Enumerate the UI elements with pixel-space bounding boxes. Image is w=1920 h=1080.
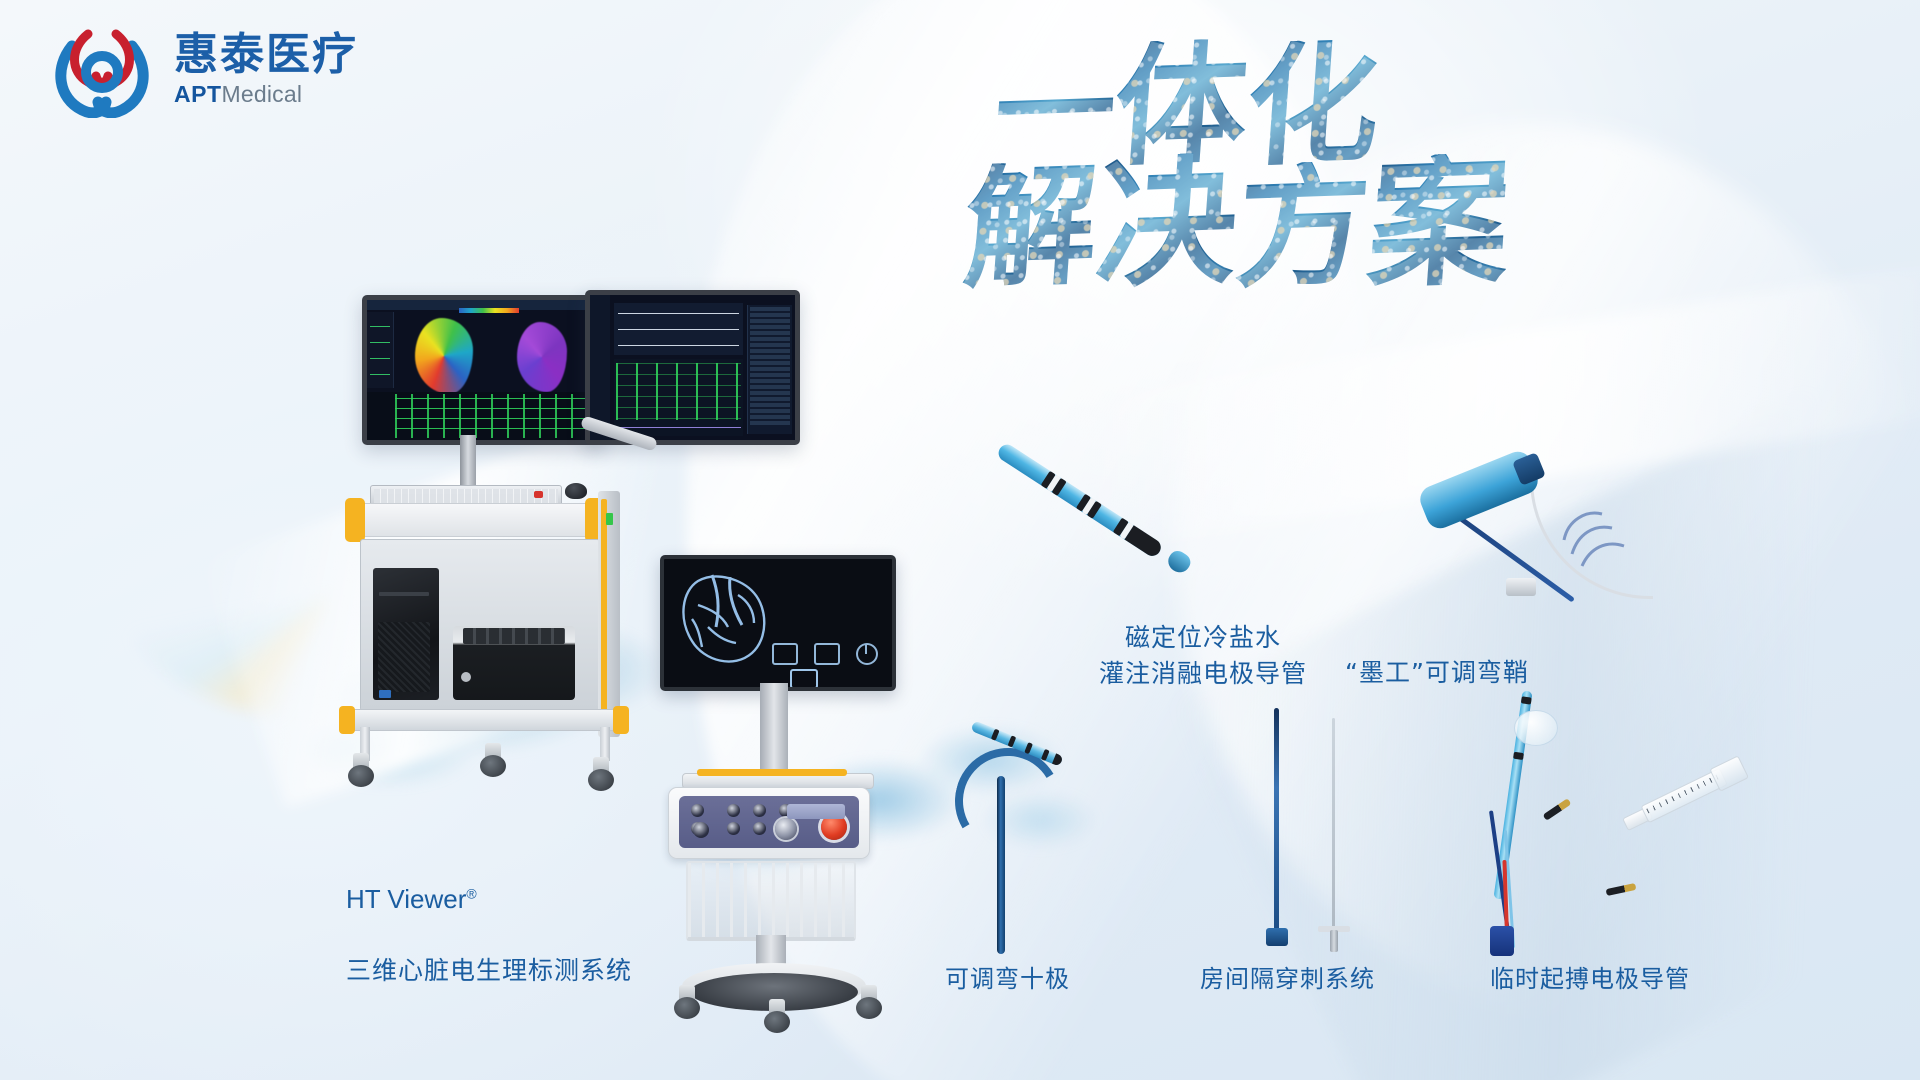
connector-port[interactable] (727, 804, 740, 817)
signal-list-panel (367, 312, 394, 388)
voltage-map-model (517, 322, 567, 392)
brand-logo: 惠泰医疗 APTMedical (48, 22, 358, 118)
power-icon[interactable] (856, 643, 878, 665)
brand-wordmark: 惠泰医疗 APTMedical (174, 32, 358, 107)
transseptal-needle-hub (1266, 928, 1288, 946)
keyboard-emergency-key[interactable] (534, 491, 543, 498)
ground-port[interactable] (693, 822, 709, 838)
sheath-curve-indicator (1558, 500, 1632, 574)
status-indicator-panel (787, 804, 845, 819)
cart-base-bumper-left (339, 706, 355, 734)
optical-drive[interactable] (379, 592, 429, 596)
label-pacing-catheter: 临时起搏电极导管 (1490, 962, 1690, 996)
cart-caster (348, 753, 374, 787)
storage-basket (686, 861, 856, 941)
display-column (760, 683, 788, 775)
ht-viewer-name-cn: 三维心脏电生理标测系统 (346, 953, 632, 989)
cart-side-column (598, 491, 620, 737)
pacing-connector-block (1490, 926, 1514, 956)
heart-display-cart (660, 555, 920, 1025)
keyboard-keys (374, 489, 558, 503)
heart-anatomy-display (660, 555, 896, 691)
ht-viewer-name-en: HT Viewer® (346, 881, 632, 918)
headline-char: 解 (960, 160, 1102, 297)
ablation-catheter-tip (1164, 548, 1193, 577)
display-action-icons (772, 643, 878, 665)
transseptal-needle-icon (1240, 700, 1380, 950)
cart-caster (480, 743, 506, 777)
label-decapolar-catheter: 可调弯十极 (945, 962, 1070, 996)
connector-control-panel (668, 787, 870, 859)
main-monitor-screen (367, 300, 599, 440)
label-ht-viewer: HT Viewer® 三维心脏电生理标测系统 (346, 845, 632, 1024)
apt-medical-logo-icon (48, 22, 156, 118)
transseptal-dilator-grip (1330, 930, 1338, 952)
label-ablation-catheter: 磁定位冷盐水 灌注消融电极导管 (1063, 620, 1343, 691)
pacing-pin-connector (1543, 798, 1572, 821)
cart-caster (588, 757, 614, 791)
open-folder-icon[interactable] (814, 643, 840, 665)
printer-paper-tray[interactable] (463, 628, 565, 644)
pc-tower (373, 568, 439, 700)
connector-port[interactable] (753, 822, 766, 835)
connector-port[interactable] (753, 804, 766, 817)
cart-equipment-bay (360, 539, 600, 711)
power-status-led (606, 513, 613, 525)
mouse[interactable] (565, 483, 587, 499)
cart-base-rail (344, 709, 624, 731)
ecg-signal-strip (367, 392, 599, 440)
pacing-catheter-icon (1490, 690, 1820, 960)
side-monitor-screen (590, 295, 795, 440)
control-panel-face (679, 796, 859, 848)
cart-caster (764, 999, 790, 1033)
tower-vent (378, 622, 430, 692)
brand-name-en-bold: APT (174, 81, 222, 107)
promo-poster: 惠泰医疗 APTMedical 一 体 化 解 决 方 案 (0, 0, 1920, 1080)
cart-base-bumper-right (613, 706, 629, 734)
new-case-icon[interactable] (772, 643, 798, 665)
sheath-hemostasis-valve (1506, 578, 1536, 596)
transseptal-dilator-shaft (1332, 718, 1335, 936)
ablation-catheter-icon (1000, 440, 1220, 600)
brand-name-en-light: Medical (222, 81, 303, 107)
headline-char: 决 (1092, 152, 1242, 297)
headline-line-2: 解 决 方 案 (965, 154, 1675, 294)
laser-printer (453, 626, 575, 700)
connector-port[interactable] (691, 804, 704, 817)
ablation-catheter-shaft (995, 441, 1164, 559)
main-connector-port[interactable] (775, 818, 797, 840)
pacing-pin-connector (1606, 883, 1637, 896)
ep-recording-cart (300, 295, 720, 815)
cart-bumper-left (345, 498, 365, 542)
segmentation-icon[interactable] (790, 669, 818, 689)
shelf-accent-strip (697, 769, 847, 776)
inflation-syringe (1619, 754, 1749, 835)
ecg-waveform-display (585, 290, 800, 445)
connector-port[interactable] (727, 822, 740, 835)
printer-power-button[interactable] (461, 672, 471, 682)
cart-caster (856, 985, 882, 1019)
cart-caster (674, 985, 700, 1019)
cart-leg (600, 727, 610, 761)
measurement-table (747, 305, 792, 434)
steerable-sheath-icon (1420, 450, 1720, 630)
label-transseptal-system: 房间隔穿刺系统 (1200, 962, 1375, 996)
cart-work-surface (352, 503, 598, 537)
pacing-balloon (1514, 710, 1558, 746)
cpu-badge (379, 690, 391, 698)
3d-cardiac-map-display (362, 295, 604, 445)
headline: 一 体 化 解 决 方 案 (975, 40, 1675, 340)
transseptal-needle-shaft (1274, 708, 1279, 936)
lat-map-model (415, 318, 473, 394)
decapolar-catheter-icon (945, 730, 1105, 950)
headline-char: 方 (1232, 160, 1374, 297)
voltage-color-scale (459, 308, 519, 313)
cart-accent-strip (601, 499, 607, 729)
monitor-stand (460, 435, 476, 487)
brand-name-en: APTMedical (174, 82, 358, 107)
label-steerable-sheath: “墨工”可调弯鞘 (1345, 655, 1529, 691)
headline-char: 案 (1364, 152, 1514, 297)
heart-anatomy-icon (668, 565, 783, 675)
brand-name-cn: 惠泰医疗 (174, 32, 358, 78)
